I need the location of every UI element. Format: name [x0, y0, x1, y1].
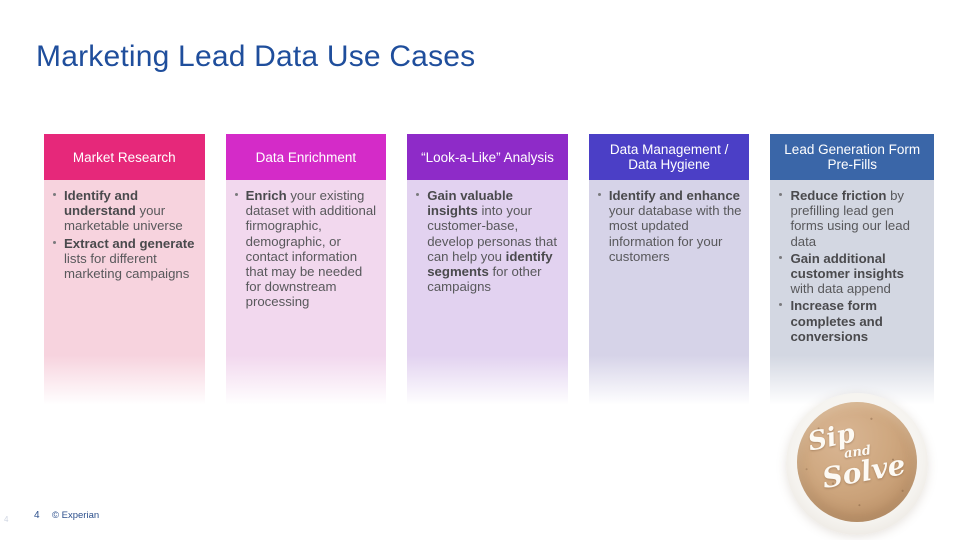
- card-header-market-research: Market Research: [44, 134, 205, 180]
- card-header-look-a-like-analysis: “Look-a-Like” Analysis: [407, 134, 568, 180]
- bullet-emphasis: Identify and understand: [64, 188, 138, 218]
- bullet-dot-icon: [598, 193, 601, 196]
- card-market-research[interactable]: Market Research Identify and understand …: [44, 134, 205, 405]
- bullet-emphasis: Increase form completes and conversions: [790, 298, 882, 343]
- bullet-text: your database with the most updated info…: [609, 203, 742, 264]
- bullet-list: Enrich your existing dataset with additi…: [232, 188, 381, 310]
- card-body-data-enrichment: Enrich your existing dataset with additi…: [226, 180, 387, 405]
- bullet-list: Identify and enhance your database with …: [595, 188, 744, 264]
- card-body-lead-generation-form-prefills: Reduce friction by prefilling lead gen f…: [770, 180, 934, 405]
- bullet-dot-icon: [53, 241, 56, 244]
- footer-copyright: © Experian: [52, 510, 99, 521]
- page-title: Marketing Lead Data Use Cases: [36, 40, 475, 74]
- list-item: Identify and understand your marketable …: [50, 188, 199, 234]
- bullet-text: your existing dataset with additional fi…: [246, 188, 377, 309]
- card-data-management-hygiene[interactable]: Data Management / Data Hygiene Identify …: [589, 134, 750, 405]
- bullet-text: with data append: [790, 281, 890, 296]
- bullet-emphasis: Reduce friction: [790, 188, 886, 203]
- bullet-text: lists for different marketing campaigns: [64, 251, 189, 281]
- card-header-data-enrichment: Data Enrichment: [226, 134, 387, 180]
- bullet-dot-icon: [779, 303, 782, 306]
- list-item: Gain additional customer insights with d…: [776, 251, 928, 297]
- bullet-emphasis: Extract and generate: [64, 236, 194, 251]
- bullet-emphasis: Gain additional customer insights: [790, 251, 904, 281]
- footer-ghost-number: 4: [4, 515, 8, 524]
- card-header-lead-generation-form-prefills: Lead Generation Form Pre-Fills: [770, 134, 934, 180]
- bullet-list: Reduce friction by prefilling lead gen f…: [776, 188, 928, 344]
- card-body-data-management-hygiene: Identify and enhance your database with …: [589, 180, 750, 405]
- use-case-card-row: Market Research Identify and understand …: [44, 134, 934, 405]
- card-body-look-a-like-analysis: Gain valuable insights into your custome…: [407, 180, 568, 405]
- bullet-dot-icon: [779, 193, 782, 196]
- slide-footer: 4 4 © Experian: [0, 506, 960, 540]
- card-body-market-research: Identify and understand your marketable …: [44, 180, 205, 405]
- bullet-dot-icon: [779, 256, 782, 259]
- card-header-data-management-hygiene: Data Management / Data Hygiene: [589, 134, 750, 180]
- bullet-list: Identify and understand your marketable …: [50, 188, 199, 281]
- bullet-dot-icon: [53, 193, 56, 196]
- footer-page-number: 4: [34, 510, 40, 521]
- coffee-surface: [797, 402, 917, 522]
- list-item: Enrich your existing dataset with additi…: [232, 188, 381, 310]
- bullet-emphasis: Enrich: [246, 188, 287, 203]
- list-item: Increase form completes and conversions: [776, 298, 928, 344]
- card-lead-generation-form-prefills[interactable]: Lead Generation Form Pre-Fills Reduce fr…: [770, 134, 934, 405]
- bullet-dot-icon: [235, 193, 238, 196]
- list-item: Identify and enhance your database with …: [595, 188, 744, 264]
- card-look-a-like-analysis[interactable]: “Look-a-Like” Analysis Gain valuable ins…: [407, 134, 568, 405]
- list-item: Reduce friction by prefilling lead gen f…: [776, 188, 928, 249]
- slide-canvas: Marketing Lead Data Use Cases Market Res…: [0, 0, 960, 540]
- bullet-dot-icon: [416, 193, 419, 196]
- bullet-emphasis: Identify and enhance: [609, 188, 740, 203]
- bullet-list: Gain valuable insights into your custome…: [413, 188, 562, 294]
- card-data-enrichment[interactable]: Data Enrichment Enrich your existing dat…: [226, 134, 387, 405]
- list-item: Gain valuable insights into your custome…: [413, 188, 562, 294]
- list-item: Extract and generate lists for different…: [50, 236, 199, 282]
